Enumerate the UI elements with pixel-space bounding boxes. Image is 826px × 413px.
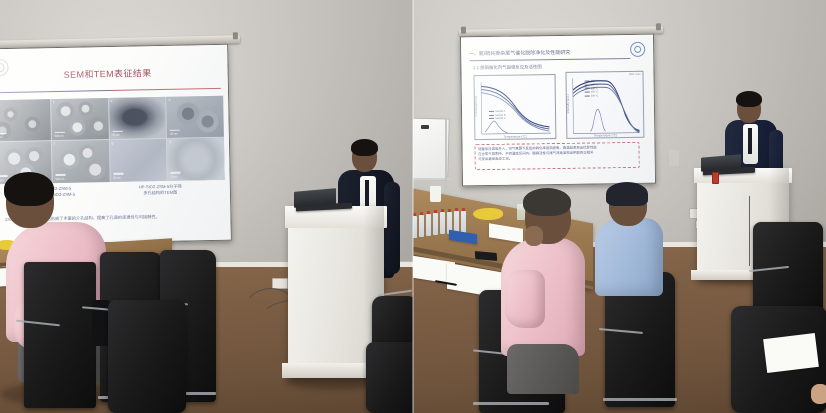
panel-tag: c xyxy=(111,99,113,103)
left-photo: SEM和TEM表征结果 a 1 μm b 500 nm c 50 nm xyxy=(0,0,413,413)
chart-y-label: Intensity (a.u.) xyxy=(565,94,569,113)
scale-bar: 20 nm xyxy=(113,173,123,180)
office-chair xyxy=(24,262,96,408)
scale-bar: 20 nm xyxy=(170,129,180,136)
chart-x-label: Temperature (°C) xyxy=(567,132,644,137)
micrograph-grid: a 1 μm b 500 nm c 50 nm d 20 nm xyxy=(0,95,225,183)
attendee-cap-icon xyxy=(606,182,648,206)
scale-bar: 500 nm xyxy=(54,131,64,138)
presenter-tie xyxy=(748,128,752,154)
screen-housing-bracket xyxy=(656,23,661,30)
office-chair xyxy=(108,300,186,413)
panel-tag: g xyxy=(111,141,113,145)
chart-corner-label: NOx conv. xyxy=(629,72,641,75)
attendee-hair xyxy=(4,172,54,206)
attendee-hand xyxy=(811,384,826,404)
panel-tag: h xyxy=(169,140,171,144)
fire-alarm-icon xyxy=(712,172,719,184)
highlight-line: 可提出最佳反应工况。 xyxy=(478,155,635,162)
bananas xyxy=(473,208,503,220)
right-photo: 一、氮/硫共掺杂尾气催化脱除净化及性能研究 1.1 脱硝催化剂气固相反应及活性图 xyxy=(413,0,826,413)
legend-entry: 500 °C xyxy=(585,94,598,98)
chart-legend: Sample A Sample B Sample C xyxy=(489,110,506,121)
chair-base xyxy=(473,402,549,405)
presenter-hair xyxy=(351,139,378,156)
scale-bar: 1 μm xyxy=(0,133,7,140)
water-bottle xyxy=(426,214,431,236)
chart-x-label: Temperature (°C) xyxy=(475,134,556,139)
micrograph-cell: h 5 nm xyxy=(167,138,225,181)
slide-catalysis: 一、氮/硫共掺杂尾气催化脱除净化及性能研究 1.1 脱硝催化剂气固相反应及活性图 xyxy=(461,35,655,186)
slide-title: 一、氮/硫共掺杂尾气催化脱除净化及性能研究 xyxy=(469,49,570,57)
screenshot-root: SEM和TEM表征结果 a 1 μm b 500 nm c 50 nm xyxy=(0,0,826,413)
water-bottle xyxy=(461,211,466,233)
screen-housing-bracket xyxy=(461,27,466,34)
attendee-hair xyxy=(523,188,571,216)
screen-housing-bracket xyxy=(233,32,238,39)
chart-conversion-vs-temperature: Sample A Sample B Sample C Temperature (… xyxy=(473,74,557,139)
slide-title-rule xyxy=(0,88,221,94)
slide-highlight-box: 随着反应温度升入，空气氛围下反应的转化率逐渐提高，高温段表现出优异性能 在含氧气… xyxy=(474,141,639,170)
scale-bar: 50 nm xyxy=(112,130,122,137)
scale-bar: 5 nm xyxy=(171,172,181,179)
chart-curves xyxy=(566,71,644,137)
paper-cup xyxy=(430,186,441,202)
presenter-hair xyxy=(736,91,762,107)
chart-activity-profile: NOx conv. 300 °C 350 °C 400 °C 450 °C 50… xyxy=(565,70,645,138)
presenter-tie xyxy=(365,180,369,208)
micrograph-cell: b 500 nm xyxy=(51,98,109,141)
micrograph-cell: f 500 nm xyxy=(52,140,110,183)
slide-subtitle: 1.1 脱硝催化剂气固相反应及活性图 xyxy=(473,64,542,71)
scale-bar: 500 nm xyxy=(55,174,65,181)
whiteboard-tray xyxy=(413,178,449,180)
attendee-arm xyxy=(505,270,545,328)
attendee-hand xyxy=(525,226,543,246)
micrograph-cell: d 20 nm xyxy=(166,95,224,138)
water-bottle xyxy=(440,212,445,234)
micrograph-cell: c 50 nm xyxy=(109,97,167,140)
chart-legend: 300 °C 350 °C 400 °C 450 °C 500 °C xyxy=(585,80,599,98)
office-chair xyxy=(366,342,413,413)
whiteboard-leg xyxy=(445,118,447,206)
chart-y-label: Conversion (%) xyxy=(473,96,477,117)
attendee-torso xyxy=(595,218,663,296)
panel-tag: d xyxy=(168,98,170,102)
chair-base xyxy=(603,398,677,401)
panel-tag: b xyxy=(53,100,55,104)
water-bottle xyxy=(433,213,438,235)
water-bottle xyxy=(454,211,459,233)
legend-entry: Sample C xyxy=(489,117,506,121)
blue-emblem-icon xyxy=(630,42,645,57)
micrograph-cell: a 1 μm xyxy=(0,99,51,142)
slide-title-rule xyxy=(469,58,630,61)
chart-curves xyxy=(474,76,555,139)
panel-tag: f xyxy=(54,142,55,146)
micrograph-cell: g 20 nm xyxy=(109,139,167,182)
whiteboard-clip-icon xyxy=(421,125,429,129)
panel-seam xyxy=(412,0,414,413)
ceiling-vent xyxy=(669,150,679,166)
slide-title: SEM和TEM表征结果 xyxy=(0,64,228,82)
figure-caption-right: HP-SiO2-ZSM-5分子筛 多孔结构的TEM图 xyxy=(115,184,206,197)
attendee-lower-body xyxy=(507,344,579,394)
water-bottle xyxy=(419,215,424,237)
documents xyxy=(763,333,819,373)
presenter-arm xyxy=(384,182,400,274)
projection-screen: 一、氮/硫共掺杂尾气催化脱除净化及性能研究 1.1 脱硝催化剂气固相反应及活性图 xyxy=(460,34,656,187)
